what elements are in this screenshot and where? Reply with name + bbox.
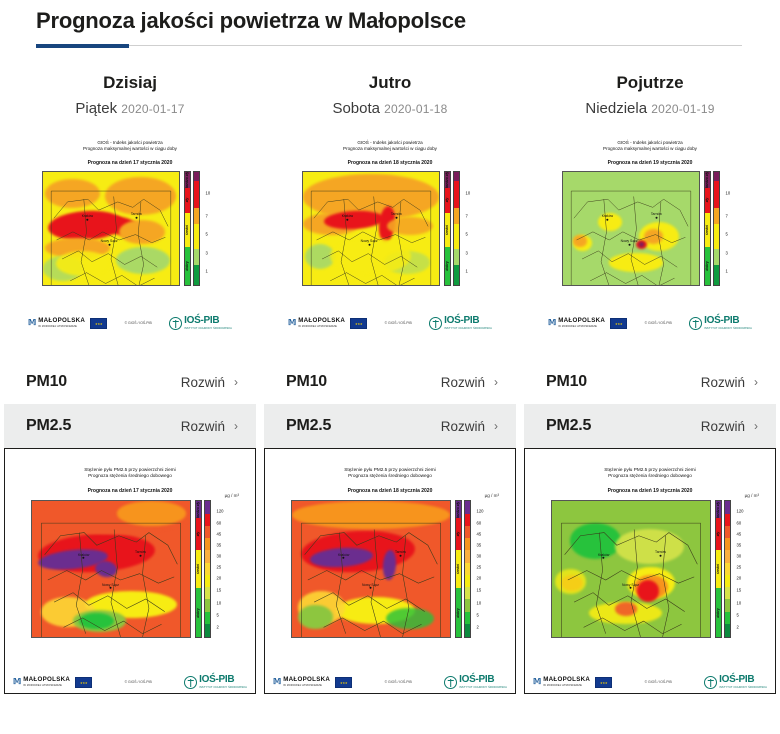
legend-category-label: zły — [445, 198, 449, 203]
map-city-label: Kraków — [78, 553, 89, 557]
air-quality-index-map[interactable]: GIOŚ - Indeks jakości powietrzaPrognoza … — [20, 134, 240, 334]
pm25-label: PM2.5 — [546, 417, 591, 435]
map-administrative-borders — [563, 172, 699, 286]
map-city-label: Nowy Sącz — [102, 583, 119, 587]
map-city-marker: Kraków — [78, 553, 89, 560]
legend-colour-bar — [724, 500, 731, 638]
ios-pib-tagline: INSTYTUT OCHRONY ŚRODOWISKA — [184, 327, 232, 330]
map-title-line: Prognoza na dzień 17 stycznia 2020 — [5, 488, 255, 495]
map-canvas[interactable]: KrakówTarnówNowy Sącz — [31, 500, 191, 638]
legend-tick-value: 120 — [217, 509, 224, 514]
map-city-dot — [140, 554, 142, 556]
figure-credit: © GIOŚ / IOŚ-PIB — [125, 321, 152, 325]
malopolska-wordmark: MAŁOPOLSKAW ZDROWEJ ATMOSFERZE — [38, 318, 85, 327]
legend-category-bar: bardzo złyzłyśrednidobry — [455, 500, 462, 638]
legend-tick-value: 45 — [737, 531, 742, 536]
map-body: KrakówTarnówNowy Sączbardzo złyzłyśredni… — [525, 500, 775, 638]
malopolska-wordmark: MAŁOPOLSKAW ZDROWEJ ATMOSFERZE — [283, 677, 330, 686]
map-title-line: Prognoza na dzień 18 stycznia 2020 — [265, 488, 515, 495]
pm25-row[interactable]: PM2.5Rozwiń› — [4, 404, 256, 448]
malopolska-logo: 𝕄MAŁOPOLSKAW ZDROWEJ ATMOSFERZE — [13, 677, 92, 688]
expand-label: Rozwiń — [181, 375, 225, 390]
legend-tick-value: 5 — [477, 612, 479, 617]
malopolska-logo: 𝕄MAŁOPOLSKAW ZDROWEJ ATMOSFERZE — [28, 318, 107, 329]
map-city-marker: Nowy Sącz — [621, 239, 638, 246]
map-canvas[interactable]: KrakówTarnówNowy Sącz — [42, 171, 180, 286]
legend-tick-value: 10 — [726, 190, 731, 195]
figure-credit: © GIOŚ / IOŚ-PIB — [385, 680, 412, 684]
legend-tick-value: 10 — [217, 600, 222, 605]
legend-colour-bar — [453, 171, 460, 286]
figure-credit: © GIOŚ / IOŚ-PIB — [125, 680, 152, 684]
map-title-line: Prognoza na dzień 18 stycznia 2020 — [280, 160, 500, 167]
ios-pib-tagline: INSTYTUT OCHRONY ŚRODOWISKA — [719, 686, 767, 689]
legend-tick-value: 30 — [217, 553, 222, 558]
malopolska-mark: 𝕄 — [533, 678, 541, 686]
legend-tick-value: 20 — [477, 575, 482, 580]
weekday-name: Sobota — [332, 100, 384, 117]
legend-ticks: 120604535302520151052 — [734, 500, 750, 638]
forecast-day-column: DzisiajPiątek 2020-01-17GIOŚ - Indeks ja… — [0, 60, 260, 694]
ios-pib-name: IOŚ-PIB — [459, 675, 507, 685]
legend-category-label: dobry — [185, 261, 189, 270]
legend-category-bar: bardzo złyzłyśrednidobry — [184, 171, 191, 286]
malopolska-mark: 𝕄 — [13, 678, 21, 686]
malopolska-tagline: W ZDROWEJ ATMOSFERZE — [38, 325, 85, 328]
map-city-marker: Tarnów — [651, 212, 662, 219]
map-body: KrakówTarnówNowy Sączbardzo złyzłyśredni… — [5, 500, 255, 638]
expand-label: Rozwiń — [701, 419, 745, 434]
eu-flag-icon — [75, 677, 92, 688]
expand-link[interactable]: Rozwiń› — [181, 375, 238, 390]
eu-flag-icon — [350, 318, 367, 329]
chevron-right-icon: › — [754, 420, 758, 432]
malopolska-logo: 𝕄MAŁOPOLSKAW ZDROWEJ ATMOSFERZE — [273, 677, 352, 688]
malopolska-wordmark: MAŁOPOLSKAW ZDROWEJ ATMOSFERZE — [543, 677, 590, 686]
map-title-line: Prognoza stężenia średniego dobowego — [265, 473, 515, 479]
map-city-dot — [368, 243, 370, 245]
malopolska-tagline: W ZDROWEJ ATMOSFERZE — [298, 325, 345, 328]
map-city-label: Kraków — [602, 214, 613, 218]
figure-footer: 𝕄MAŁOPOLSKAW ZDROWEJ ATMOSFERZE© GIOŚ / … — [280, 316, 500, 330]
legend-tick-value: 7 — [726, 213, 728, 218]
map-city-dot — [628, 243, 630, 245]
map-city-dot — [395, 216, 397, 218]
ios-pib-tagline: INSTYTUT OCHRONY ŚRODOWISKA — [704, 327, 752, 330]
index-legend: bardzo złyzłyśrednidobry — [184, 171, 200, 286]
ios-pib-wordmark: IOŚ-PIBINSTYTUT OCHRONY ŚRODOWISKA — [199, 675, 247, 689]
map-administrative-borders — [292, 501, 450, 638]
ios-pib-wordmark: IOŚ-PIBINSTYTUT OCHRONY ŚRODOWISKA — [704, 316, 752, 330]
day-date-line: Sobota 2020-01-18 — [332, 100, 447, 117]
ios-pib-logo: IOŚ-PIBINSTYTUT OCHRONY ŚRODOWISKA — [689, 316, 752, 330]
legend-tick-value: 2 — [217, 625, 219, 630]
legend-category-label: dobry — [196, 608, 200, 617]
legend-tick-value: 3 — [206, 250, 208, 255]
map-body: KrakówTarnówNowy Sączbardzo złyzłyśredni… — [280, 171, 500, 286]
map-city-label: Tarnów — [655, 550, 666, 554]
legend-tick-value: 5 — [206, 232, 208, 237]
pm25-map-panel[interactable]: Stężenie pyłu PM2.5 przy powierzchni zie… — [264, 448, 516, 694]
legend-tick-value: 45 — [477, 531, 482, 536]
legend-category-label: bardzo zły — [185, 172, 189, 189]
map-city-label: Tarnów — [131, 212, 142, 216]
legend-tick-value: 120 — [477, 509, 484, 514]
day-date-line: Niedziela 2020-01-19 — [585, 100, 714, 117]
index-legend: bardzo złyzłyśrednidobry — [444, 171, 460, 286]
legend-tick-value: 5 — [217, 612, 219, 617]
map-city-dot — [603, 557, 605, 559]
map-administrative-borders — [552, 501, 710, 638]
title-underline-base — [36, 45, 742, 46]
legend-category-label: dobry — [705, 261, 709, 270]
eu-flag-icon — [335, 677, 352, 688]
title-underline — [36, 44, 742, 47]
pm25-legend: bardzo złyzłyśrednidobry — [455, 500, 471, 638]
figure-footer: 𝕄MAŁOPOLSKAW ZDROWEJ ATMOSFERZE© GIOŚ / … — [265, 675, 515, 689]
chevron-right-icon: › — [234, 376, 238, 388]
legend-category-label: średni — [185, 225, 189, 235]
legend-tick-value: 20 — [217, 575, 222, 580]
eu-flag-icon — [610, 318, 627, 329]
map-city-dot — [400, 554, 402, 556]
figure-footer: 𝕄MAŁOPOLSKAW ZDROWEJ ATMOSFERZE© GIOŚ / … — [540, 316, 760, 330]
legend-category-label: bardzo zły — [456, 501, 460, 518]
map-city-label: Nowy Sącz — [622, 583, 639, 587]
legend-tick-value: 30 — [477, 553, 482, 558]
pm25-row[interactable]: PM2.5Rozwiń› — [524, 404, 776, 448]
legend-ticks: 107531 — [723, 171, 739, 286]
legend-tick-value: 60 — [737, 520, 742, 525]
expand-link[interactable]: Rozwiń› — [701, 419, 758, 434]
expand-link[interactable]: Rozwiń› — [181, 419, 238, 434]
expand-link[interactable]: Rozwiń› — [701, 375, 758, 390]
legend-category-label: dobry — [716, 608, 720, 617]
map-title-line: Prognoza maksymalnej wartości w ciągu do… — [20, 146, 240, 152]
index-legend: bardzo złyzłyśrednidobry — [704, 171, 720, 286]
malopolska-logo: 𝕄MAŁOPOLSKAW ZDROWEJ ATMOSFERZE — [533, 677, 612, 688]
map-city-dot — [108, 243, 110, 245]
figure-credit: © GIOŚ / IOŚ-PIB — [385, 321, 412, 325]
map-canvas[interactable]: KrakówTarnówNowy Sącz — [302, 171, 440, 286]
legend-category-label: średni — [705, 225, 709, 235]
legend-colour-bar — [713, 171, 720, 286]
map-city-marker: Tarnów — [655, 550, 666, 557]
map-body: KrakówTarnówNowy Sączbardzo złyzłyśredni… — [540, 171, 760, 286]
map-title-line: Prognoza na dzień 19 stycznia 2020 — [540, 160, 760, 167]
map-title-line: Prognoza stężenia średniego dobowego — [5, 473, 255, 479]
ios-pib-wordmark: IOŚ-PIBINSTYTUT OCHRONY ŚRODOWISKA — [719, 675, 767, 689]
map-city-dot — [655, 216, 657, 218]
map-city-label: Tarnów — [135, 550, 146, 554]
legend-tick-value: 3 — [726, 250, 728, 255]
figure-credit: © GIOŚ / IOŚ-PIB — [645, 680, 672, 684]
map-city-label: Kraków — [82, 214, 93, 218]
malopolska-mark: 𝕄 — [28, 319, 36, 327]
legend-tick-value: 1 — [726, 269, 728, 274]
legend-tick-value: 15 — [217, 588, 222, 593]
malopolska-mark: 𝕄 — [548, 319, 556, 327]
map-city-label: Tarnów — [395, 550, 406, 554]
ios-pib-name: IOŚ-PIB — [704, 316, 752, 326]
pm25-label: PM2.5 — [26, 417, 71, 435]
legend-colour-bar — [193, 171, 200, 286]
legend-ticks: 120604535302520151052 — [474, 500, 490, 638]
map-administrative-borders — [43, 172, 179, 286]
legend-tick-value: 5 — [726, 232, 728, 237]
legend-category-bar: bardzo złyzłyśrednidobry — [195, 500, 202, 638]
map-city-label: Tarnów — [391, 212, 402, 216]
legend-tick-value: 120 — [737, 509, 744, 514]
legend-category-label: bardzo zły — [445, 172, 449, 189]
map-city-dot — [135, 216, 137, 218]
pm10-label: PM10 — [26, 373, 67, 391]
map-city-dot — [343, 557, 345, 559]
legend-unit-label: µg / m³ — [225, 493, 239, 498]
legend-category-label: średni — [716, 564, 720, 574]
forecast-day-column: JutroSobota 2020-01-18GIOŚ - Indeks jako… — [260, 60, 520, 694]
legend-category-label: dobry — [456, 608, 460, 617]
day-label: Jutro — [369, 73, 412, 93]
map-city-marker: Nowy Sącz — [622, 583, 639, 590]
day-label: Dzisiaj — [103, 73, 157, 93]
date-value: 2020-01-19 — [651, 102, 714, 116]
ios-pib-name: IOŚ-PIB — [444, 316, 492, 326]
air-quality-forecast-page: Prognoza jakości powietrza w Małopolsce … — [0, 0, 780, 734]
malopolska-wordmark: MAŁOPOLSKAW ZDROWEJ ATMOSFERZE — [298, 318, 345, 327]
legend-tick-value: 10 — [206, 190, 211, 195]
ios-pib-mark — [429, 317, 442, 330]
malopolska-logo: 𝕄MAŁOPOLSKAW ZDROWEJ ATMOSFERZE — [548, 318, 627, 329]
expand-label: Rozwiń — [441, 419, 485, 434]
legend-tick-value: 10 — [466, 190, 471, 195]
legend-category-label: zły — [705, 198, 709, 203]
legend-tick-value: 1 — [206, 269, 208, 274]
legend-tick-value: 25 — [217, 564, 222, 569]
legend-category-label: zły — [716, 532, 720, 537]
map-city-marker: Nowy Sącz — [362, 583, 379, 590]
legend-category-bar: bardzo złyzłyśrednidobry — [704, 171, 711, 286]
legend-category-label: dobry — [445, 261, 449, 270]
weekday-name: Niedziela — [585, 100, 651, 117]
ios-pib-logo: IOŚ-PIBINSTYTUT OCHRONY ŚRODOWISKA — [704, 675, 767, 689]
legend-ticks: 107531 — [463, 171, 479, 286]
eu-flag-icon — [90, 318, 107, 329]
map-city-label: Nowy Sącz — [362, 583, 379, 587]
malopolska-mark: 𝕄 — [273, 678, 281, 686]
ios-pib-wordmark: IOŚ-PIBINSTYTUT OCHRONY ŚRODOWISKA — [184, 316, 232, 330]
figure-credit: © GIOŚ / IOŚ-PIB — [645, 321, 672, 325]
forecast-day-column: PojutrzeNiedziela 2020-01-19GIOŚ - Indek… — [520, 60, 780, 694]
legend-tick-value: 45 — [217, 531, 222, 536]
map-city-label: Nowy Sącz — [361, 239, 378, 243]
legend-unit-label: µg / m³ — [745, 493, 759, 498]
malopolska-wordmark: MAŁOPOLSKAW ZDROWEJ ATMOSFERZE — [558, 318, 605, 327]
legend-ticks: 120604535302520151052 — [214, 500, 230, 638]
ios-pib-mark — [169, 317, 182, 330]
map-city-dot — [346, 219, 348, 221]
pm10-row[interactable]: PM10Rozwiń› — [4, 360, 256, 404]
ios-pib-logo: IOŚ-PIBINSTYTUT OCHRONY ŚRODOWISKA — [429, 316, 492, 330]
title-underline-accent — [36, 44, 129, 48]
map-city-marker: Tarnów — [135, 550, 146, 557]
map-city-dot — [110, 587, 112, 589]
legend-tick-value: 35 — [737, 542, 742, 547]
page-title: Prognoza jakości powietrza w Małopolsce — [36, 8, 466, 34]
map-city-marker: Kraków — [598, 553, 609, 560]
legend-category-label: zły — [185, 198, 189, 203]
air-quality-index-map[interactable]: GIOŚ - Indeks jakości powietrzaPrognoza … — [540, 134, 760, 334]
map-city-label: Kraków — [598, 553, 609, 557]
legend-tick-value: 35 — [217, 542, 222, 547]
malopolska-tagline: W ZDROWEJ ATMOSFERZE — [543, 684, 590, 687]
legend-tick-value: 35 — [477, 542, 482, 547]
pm25-label: PM2.5 — [286, 417, 331, 435]
eu-flag-icon — [595, 677, 612, 688]
pm25-legend: bardzo złyzłyśrednidobry — [195, 500, 211, 638]
map-city-marker: Kraków — [82, 214, 93, 221]
malopolska-tagline: W ZDROWEJ ATMOSFERZE — [558, 325, 605, 328]
day-date-line: Piątek 2020-01-17 — [75, 100, 184, 117]
forecast-columns: DzisiajPiątek 2020-01-17GIOŚ - Indeks ja… — [0, 60, 780, 694]
malopolska-tagline: W ZDROWEJ ATMOSFERZE — [23, 684, 70, 687]
ios-pib-name: IOŚ-PIB — [199, 675, 247, 685]
legend-tick-value: 10 — [737, 600, 742, 605]
malopolska-wordmark: MAŁOPOLSKAW ZDROWEJ ATMOSFERZE — [23, 677, 70, 686]
malopolska-tagline: W ZDROWEJ ATMOSFERZE — [283, 684, 330, 687]
legend-tick-value: 10 — [477, 600, 482, 605]
pollutant-selector: PM10Rozwiń›PM2.5Rozwiń› — [524, 360, 776, 448]
legend-colour-bar — [204, 500, 211, 638]
map-canvas[interactable]: KrakówTarnówNowy Sącz — [291, 500, 451, 638]
map-city-label: Kraków — [342, 214, 353, 218]
expand-label: Rozwiń — [701, 375, 745, 390]
pm10-label: PM10 — [546, 373, 587, 391]
figure-footer: 𝕄MAŁOPOLSKAW ZDROWEJ ATMOSFERZE© GIOŚ / … — [5, 675, 255, 689]
ios-pib-mark — [184, 676, 197, 689]
air-quality-index-map[interactable]: GIOŚ - Indeks jakości powietrzaPrognoza … — [280, 134, 500, 334]
map-title-line: Prognoza na dzień 19 stycznia 2020 — [525, 488, 775, 495]
map-city-marker: Nowy Sącz — [361, 239, 378, 246]
map-title-line: Prognoza maksymalnej wartości w ciągu do… — [540, 146, 760, 152]
ios-pib-name: IOŚ-PIB — [184, 316, 232, 326]
map-city-marker: Nowy Sącz — [102, 583, 119, 590]
legend-tick-value: 60 — [217, 520, 222, 525]
ios-pib-tagline: INSTYTUT OCHRONY ŚRODOWISKA — [444, 327, 492, 330]
chevron-right-icon: › — [234, 420, 238, 432]
map-city-label: Nowy Sącz — [621, 239, 638, 243]
day-label: Pojutrze — [616, 73, 683, 93]
legend-tick-value: 3 — [466, 250, 468, 255]
legend-tick-value: 20 — [737, 575, 742, 580]
ios-pib-logo: IOŚ-PIBINSTYTUT OCHRONY ŚRODOWISKA — [444, 675, 507, 689]
map-city-dot — [86, 219, 88, 221]
weekday-name: Piątek — [75, 100, 121, 117]
malopolska-logo: 𝕄MAŁOPOLSKAW ZDROWEJ ATMOSFERZE — [288, 318, 367, 329]
pm25-map-panel[interactable]: Stężenie pyłu PM2.5 przy powierzchni zie… — [524, 448, 776, 694]
legend-category-bar: bardzo złyzłyśrednidobry — [715, 500, 722, 638]
legend-unit-label: µg / m³ — [485, 493, 499, 498]
map-city-marker: Nowy Sącz — [101, 239, 118, 246]
ios-pib-tagline: INSTYTUT OCHRONY ŚRODOWISKA — [459, 686, 507, 689]
figure-footer: 𝕄MAŁOPOLSKAW ZDROWEJ ATMOSFERZE© GIOŚ / … — [20, 316, 240, 330]
map-canvas[interactable]: KrakówTarnówNowy Sącz — [551, 500, 711, 638]
legend-category-label: średni — [445, 225, 449, 235]
pm10-row[interactable]: PM10Rozwiń› — [524, 360, 776, 404]
date-value: 2020-01-17 — [121, 102, 184, 116]
date-value: 2020-01-18 — [384, 102, 447, 116]
map-city-marker: Kraków — [342, 214, 353, 221]
map-city-marker: Tarnów — [395, 550, 406, 557]
legend-tick-value: 15 — [477, 588, 482, 593]
figure-footer: 𝕄MAŁOPOLSKAW ZDROWEJ ATMOSFERZE© GIOŚ / … — [525, 675, 775, 689]
legend-category-label: bardzo zły — [716, 501, 720, 518]
legend-tick-value: 25 — [477, 564, 482, 569]
legend-tick-value: 60 — [477, 520, 482, 525]
map-city-dot — [660, 554, 662, 556]
legend-category-bar: bardzo złyzłyśrednidobry — [444, 171, 451, 286]
legend-tick-value: 2 — [477, 625, 479, 630]
expand-link[interactable]: Rozwiń› — [441, 375, 498, 390]
map-title-line: Prognoza maksymalnej wartości w ciągu do… — [280, 146, 500, 152]
map-city-label: Kraków — [338, 553, 349, 557]
map-canvas[interactable]: KrakówTarnówNowy Sącz — [562, 171, 700, 286]
legend-tick-value: 5 — [466, 232, 468, 237]
pollutant-selector: PM10Rozwiń›PM2.5Rozwiń› — [4, 360, 256, 448]
ios-pib-mark — [689, 317, 702, 330]
chevron-right-icon: › — [494, 420, 498, 432]
map-city-marker: Kraków — [338, 553, 349, 560]
ios-pib-mark — [444, 676, 457, 689]
legend-tick-value: 30 — [737, 553, 742, 558]
ios-pib-wordmark: IOŚ-PIBINSTYTUT OCHRONY ŚRODOWISKA — [444, 316, 492, 330]
legend-category-label: bardzo zły — [196, 501, 200, 518]
map-city-dot — [606, 219, 608, 221]
ios-pib-wordmark: IOŚ-PIBINSTYTUT OCHRONY ŚRODOWISKA — [459, 675, 507, 689]
map-city-dot — [370, 587, 372, 589]
legend-category-label: zły — [456, 532, 460, 537]
expand-link[interactable]: Rozwiń› — [441, 419, 498, 434]
map-city-marker: Tarnów — [131, 212, 142, 219]
expand-label: Rozwiń — [441, 375, 485, 390]
ios-pib-tagline: INSTYTUT OCHRONY ŚRODOWISKA — [199, 686, 247, 689]
map-city-dot — [630, 587, 632, 589]
pm10-row[interactable]: PM10Rozwiń› — [264, 360, 516, 404]
legend-colour-bar — [464, 500, 471, 638]
legend-tick-value: 25 — [737, 564, 742, 569]
legend-tick-value: 7 — [466, 213, 468, 218]
map-body: KrakówTarnówNowy Sączbardzo złyzłyśredni… — [20, 171, 240, 286]
pm25-legend: bardzo złyzłyśrednidobry — [715, 500, 731, 638]
ios-pib-mark — [704, 676, 717, 689]
legend-category-label: średni — [196, 564, 200, 574]
chevron-right-icon: › — [494, 376, 498, 388]
pm25-map-panel[interactable]: Stężenie pyłu PM2.5 przy powierzchni zie… — [4, 448, 256, 694]
map-city-marker: Tarnów — [391, 212, 402, 219]
map-body: KrakówTarnówNowy Sączbardzo złyzłyśredni… — [265, 500, 515, 638]
chevron-right-icon: › — [754, 376, 758, 388]
ios-pib-logo: IOŚ-PIBINSTYTUT OCHRONY ŚRODOWISKA — [184, 675, 247, 689]
map-administrative-borders — [303, 172, 439, 286]
map-city-dot — [83, 557, 85, 559]
pollutant-selector: PM10Rozwiń›PM2.5Rozwiń› — [264, 360, 516, 448]
map-title-line: Prognoza stężenia średniego dobowego — [525, 473, 775, 479]
pm25-row[interactable]: PM2.5Rozwiń› — [264, 404, 516, 448]
legend-tick-value: 15 — [737, 588, 742, 593]
ios-pib-logo: IOŚ-PIBINSTYTUT OCHRONY ŚRODOWISKA — [169, 316, 232, 330]
legend-tick-value: 7 — [206, 213, 208, 218]
ios-pib-name: IOŚ-PIB — [719, 675, 767, 685]
